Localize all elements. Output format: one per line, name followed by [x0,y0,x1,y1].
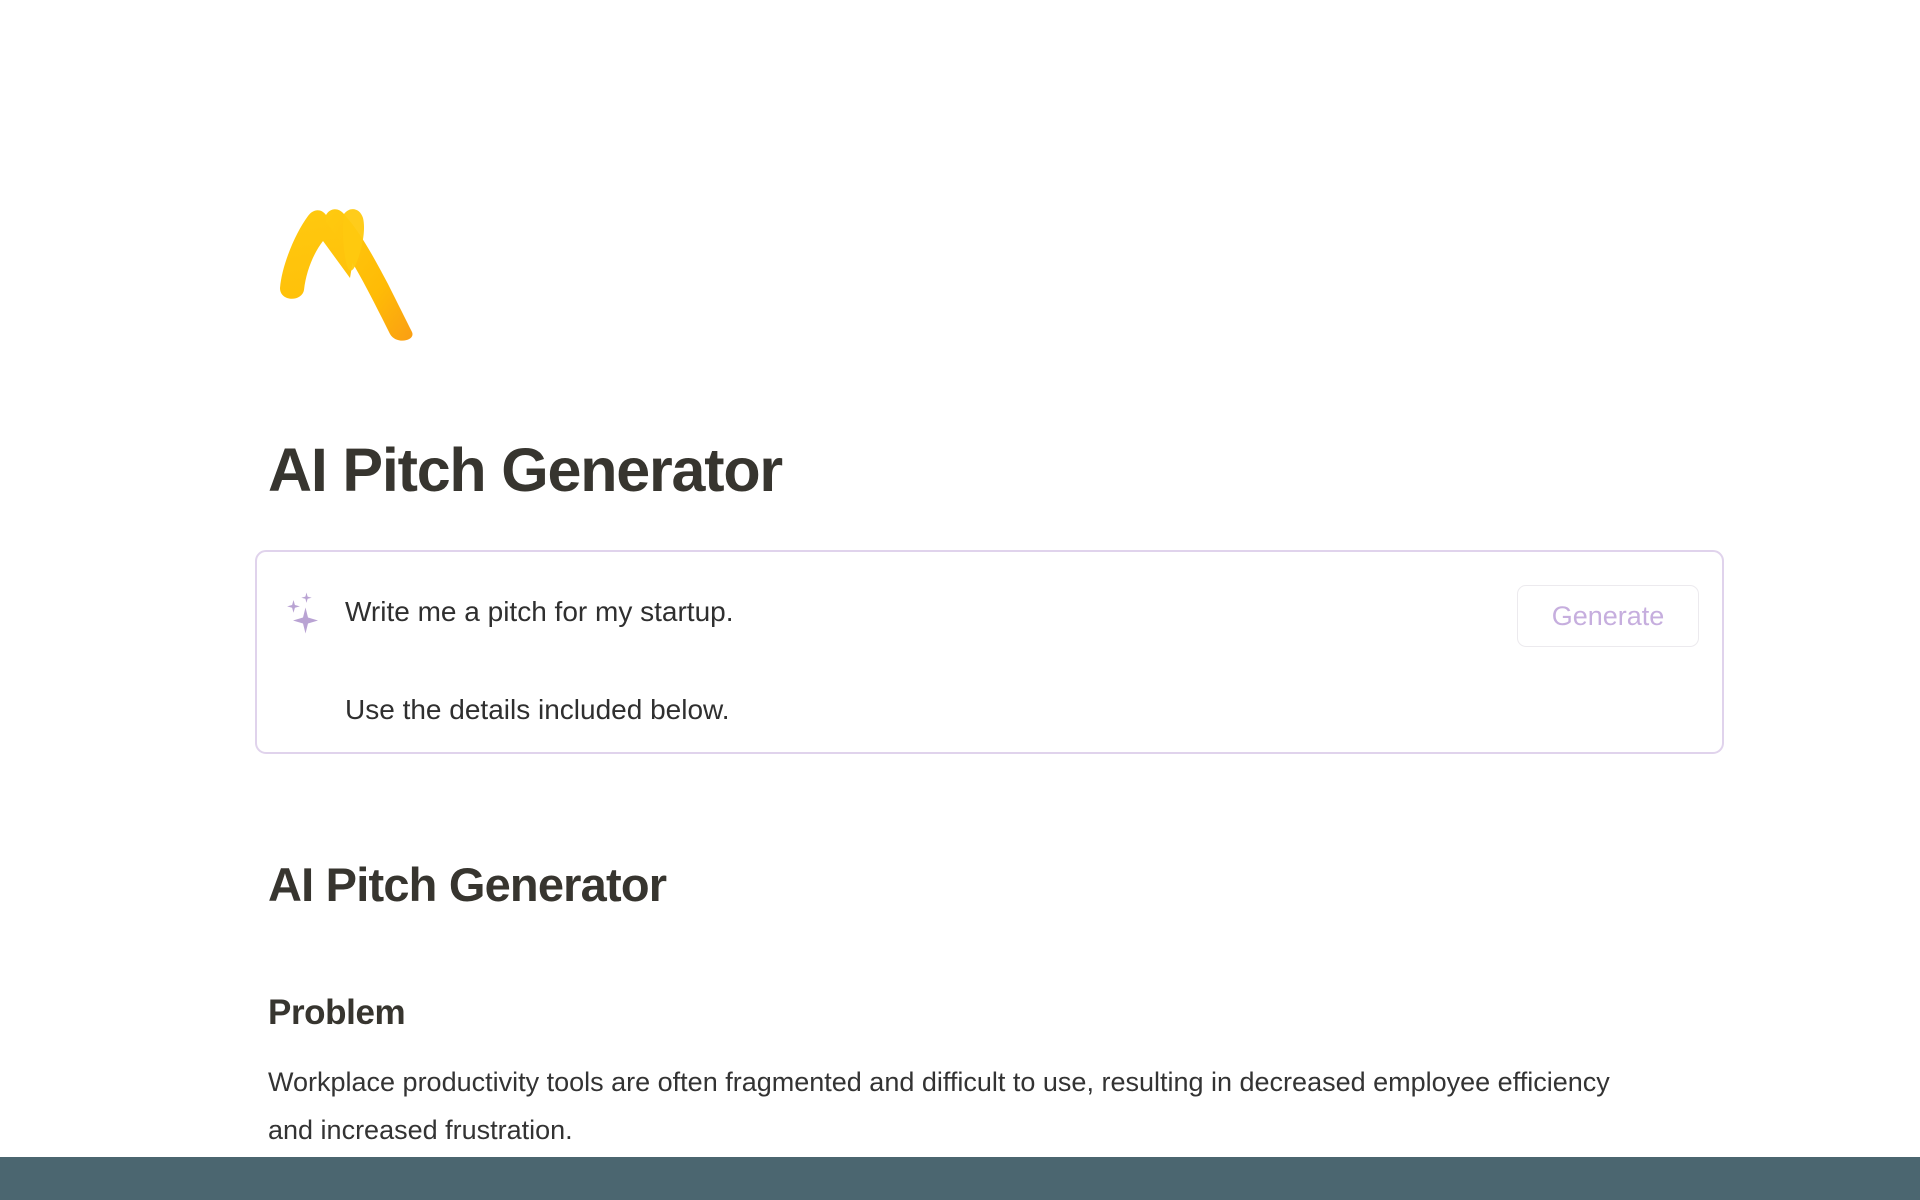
document-title: AI Pitch Generator [268,855,666,915]
generate-button[interactable]: Generate [1517,585,1699,647]
prompt-row: Write me a pitch for my startup. Use the… [257,552,1722,752]
app-page: AI Pitch Generator Write me a pitch for … [0,0,1920,1200]
sparkle-icon [282,590,326,634]
section-heading-problem: Problem [268,990,405,1036]
prompt-card[interactable]: Write me a pitch for my startup. Use the… [255,550,1724,754]
prompt-text-line-1[interactable]: Write me a pitch for my startup. [345,592,734,632]
prompt-text-line-2[interactable]: Use the details included below. [345,690,729,730]
section-body-problem: Workplace productivity tools are often f… [268,1058,1636,1154]
page-title: AI Pitch Generator [268,432,782,508]
mem-m-logo-icon [268,192,428,342]
bottom-status-bar [0,1157,1920,1200]
